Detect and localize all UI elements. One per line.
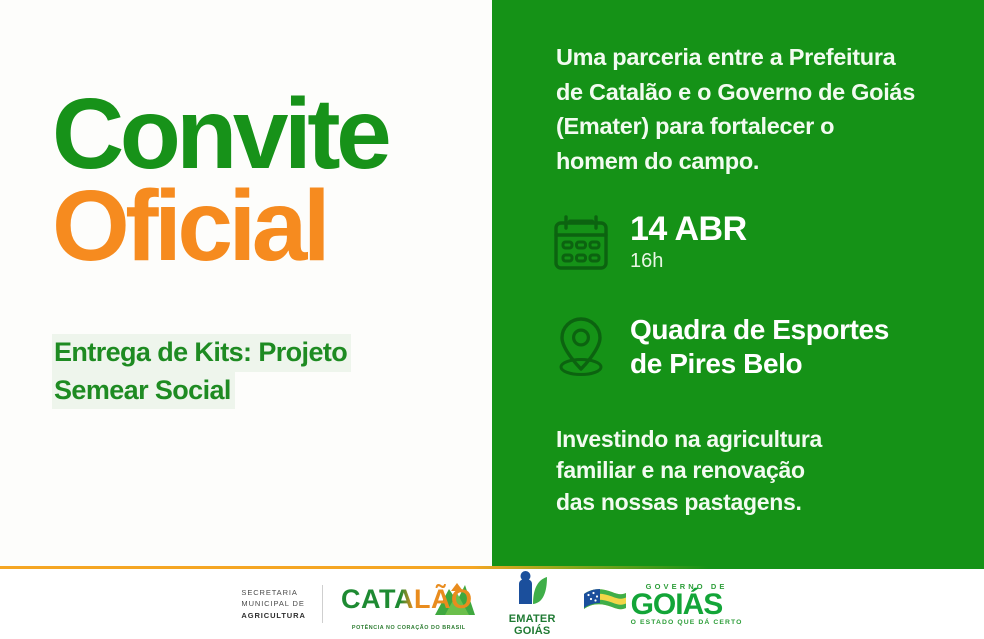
event-date-value: 14 ABR — [630, 212, 747, 248]
event-location-text: Quadra de Esportes de Pires Belo — [630, 313, 889, 380]
right-panel: Uma parceria entre a Prefeitura de Catal… — [492, 0, 984, 566]
intro-line-3: (Emater) para fortalecer o — [556, 109, 966, 144]
main-area: Convite Oficial Entrega de Kits: Projeto… — [0, 0, 984, 566]
subtitle-line-2: Semear Social — [52, 372, 235, 410]
logo-catalao: CATALÃO POTÊNCIA NO CORAÇÃO DO BRASIL — [339, 577, 479, 631]
poster-title: Convite Oficial — [52, 88, 387, 272]
goias-bottom-text: O ESTADO QUE DÁ CERTO — [631, 619, 743, 626]
event-location-row: Quadra de Esportes de Pires Belo — [550, 312, 889, 382]
subtitle-line-1: Entrega de Kits: Projeto — [52, 334, 351, 372]
intro-line-2: de Catalão e o Governo de Goiás — [556, 75, 966, 110]
map-pin-icon — [550, 312, 612, 382]
logo-governo-goias: GOVERNO DE GOIÁS O ESTADO QUE DÁ CERTO — [582, 582, 743, 627]
outro-paragraph: Investindo na agricultura familiar e na … — [556, 424, 956, 518]
emater-line-2: GOIÁS — [509, 626, 556, 638]
invitation-poster: Convite Oficial Entrega de Kits: Projeto… — [0, 0, 984, 639]
event-time-value: 16h — [630, 248, 747, 274]
goias-flag-icon — [582, 584, 628, 624]
outro-line-2: familiar e na renovação — [556, 455, 956, 486]
intro-paragraph: Uma parceria entre a Prefeitura de Catal… — [556, 40, 966, 178]
calendar-icon — [550, 208, 612, 278]
emater-label: EMATER GOIÁS — [509, 614, 556, 638]
event-date-row: 14 ABR 16h — [550, 208, 747, 278]
title-line-oficial: Oficial — [52, 180, 387, 272]
location-line-1: Quadra de Esportes — [630, 313, 889, 347]
secretaria-line-2: MUNICIPAL DE — [241, 598, 305, 609]
emater-mark — [512, 570, 552, 608]
goias-wordmark: GOVERNO DE GOIÁS O ESTADO QUE DÁ CERTO — [631, 582, 743, 627]
logo-separator — [322, 585, 323, 623]
svg-text:CATALÃO: CATALÃO — [341, 583, 472, 614]
intro-line-4: homem do campo. — [556, 144, 966, 179]
secretaria-line-3: AGRICULTURA — [241, 610, 305, 621]
logo-secretaria-agricultura: SECRETARIA MUNICIPAL DE AGRICULTURA — [241, 587, 305, 621]
catalao-tagline: POTÊNCIA NO CORAÇÃO DO BRASIL — [339, 625, 479, 631]
outro-line-1: Investindo na agricultura — [556, 424, 956, 455]
secretaria-text: SECRETARIA MUNICIPAL DE AGRICULTURA — [241, 587, 305, 621]
footer-logo-bar: SECRETARIA MUNICIPAL DE AGRICULTURA — [0, 569, 984, 639]
location-line-2: de Pires Belo — [630, 347, 889, 381]
left-panel: Convite Oficial Entrega de Kits: Projeto… — [0, 0, 492, 566]
intro-line-1: Uma parceria entre a Prefeitura — [556, 40, 966, 75]
outro-line-3: das nossas pastagens. — [556, 487, 956, 518]
logo-emater-goias: EMATER GOIÁS — [509, 570, 556, 638]
event-date-text: 14 ABR 16h — [630, 212, 747, 275]
title-line-convite: Convite — [52, 88, 387, 180]
poster-subtitle: Entrega de Kits: Projeto Semear Social — [52, 334, 351, 409]
goias-main-text: GOIÁS — [631, 591, 743, 619]
secretaria-line-1: SECRETARIA — [241, 587, 305, 598]
catalao-mark: CATALÃO — [339, 577, 479, 623]
